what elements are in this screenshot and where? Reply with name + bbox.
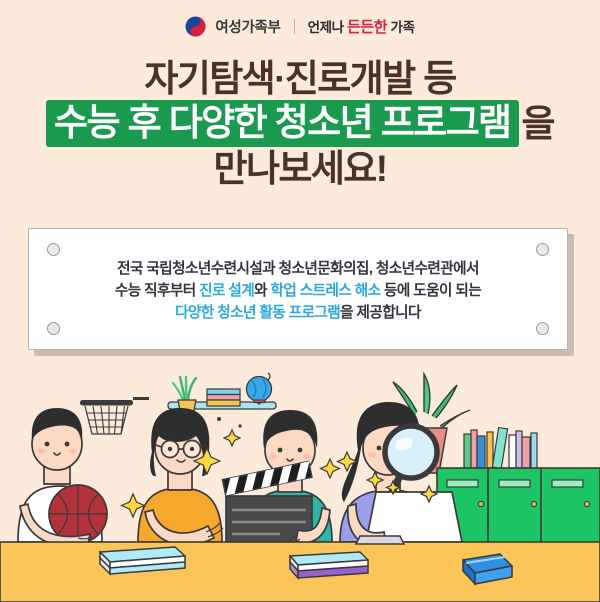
title-line-2: 수능 후 다양한 청소년 프로그램을 bbox=[46, 100, 554, 147]
slogan-emphasis: 든든한 bbox=[347, 19, 387, 36]
board-line-3: 다양한 청소년 활동 프로그램을 제공합니다 bbox=[29, 302, 567, 324]
korea-government-taegeuk-icon bbox=[185, 16, 206, 37]
board-line-1: 전국 국립청소년수련시설과 청소년문화의집, 청소년수련관에서 bbox=[29, 258, 567, 280]
board-l2-b: 진로 설계 bbox=[199, 283, 254, 299]
bolt-icon bbox=[536, 243, 549, 256]
laptop-base bbox=[356, 536, 404, 544]
stacked-books-icon bbox=[207, 389, 240, 406]
slogan-suffix: 가족 bbox=[387, 20, 414, 35]
title-highlight: 수능 후 다양한 청소년 프로그램 bbox=[46, 100, 518, 147]
poster-root: 여성가족부 언제나 든든한 가족 자기탐색·진로개발 등 수능 후 다양한 청소… bbox=[0, 0, 600, 602]
slogan-prefix: 언제나 bbox=[308, 20, 347, 35]
bolt-icon bbox=[47, 243, 60, 256]
board-l3-b: 을 제공합니다 bbox=[340, 305, 421, 321]
board-l2-d: 학업 스트레스 해소 bbox=[271, 283, 381, 299]
scene-svg bbox=[0, 356, 600, 602]
board-l3-a: 다양한 청소년 활동 프로그램 bbox=[175, 305, 340, 321]
board-l2-e: 등에 도움이 되는 bbox=[381, 283, 482, 299]
header-divider bbox=[294, 19, 295, 34]
title-block: 자기탐색·진로개발 등 수능 후 다양한 청소년 프로그램을 만나보세요! bbox=[0, 60, 600, 187]
title-line-3: 만나보세요! bbox=[0, 150, 600, 187]
ministry-name: 여성가족부 bbox=[215, 16, 280, 37]
book-stack-purple bbox=[290, 552, 368, 578]
ministry-header: 여성가족부 언제나 든든한 가족 bbox=[0, 0, 600, 52]
ministry-slogan: 언제나 든든한 가족 bbox=[308, 16, 415, 37]
title-highlight-tail: 을 bbox=[522, 105, 554, 142]
board-line-2: 수능 직후부터 진로 설계와 학업 스트레스 해소 등에 도움이 되는 bbox=[29, 280, 567, 302]
info-board: 전국 국립청소년수련시설과 청소년문화의집, 청소년수련관에서 수능 직후부터 … bbox=[28, 228, 568, 350]
board-l2-a: 수능 직후부터 bbox=[115, 283, 199, 299]
illustration-scene bbox=[0, 356, 600, 602]
title-line-1: 자기탐색·진로개발 등 bbox=[0, 60, 600, 97]
board-l2-c: 와 bbox=[254, 283, 270, 299]
board-text: 전국 국립청소년수련시설과 청소년문화의집, 청소년수련관에서 수능 직후부터 … bbox=[29, 258, 567, 325]
